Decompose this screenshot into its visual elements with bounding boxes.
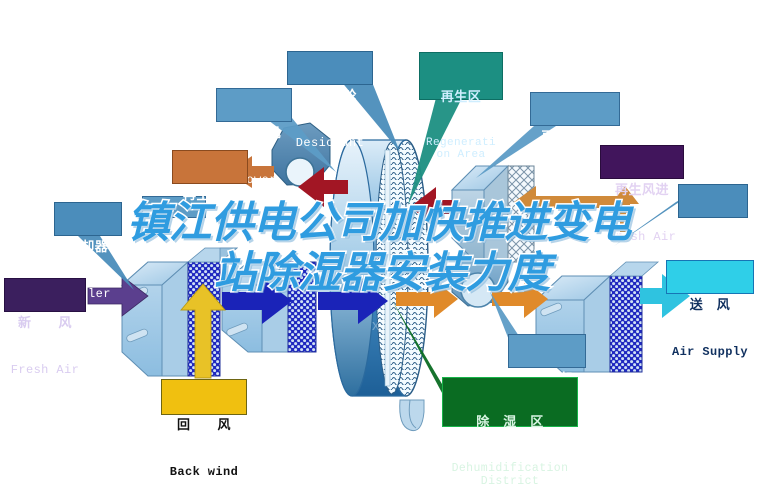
- label-air-supply: 送 风 Air Supply: [666, 260, 754, 294]
- label-desiccant-wheel: 除湿转轮 Desiccant: [287, 51, 373, 85]
- label-dehumidification-blower: 除湿风机 Blower: [508, 334, 586, 368]
- diagram-canvas: xf 除湿转轮 Desiccant 再生风机 Blower 再生区 Regene…: [0, 0, 757, 488]
- label-cooler-left: 冷却器 Cooler: [54, 202, 122, 236]
- label-regeneration-fresh-air-in: 再生风进 Fresh Air: [600, 145, 684, 179]
- label-exhaust: 再生风出 Exhaust: [172, 150, 248, 184]
- label-regeneration-blower: 再生风机 Blower: [216, 88, 292, 122]
- watermark-text: xf: [372, 317, 388, 334]
- label-fresh-air-in: 新 风 Fresh Air: [4, 278, 86, 312]
- label-cooler-right: 冷却器 Cooler: [678, 184, 748, 218]
- label-back-wind: 回 风 Back wind: [161, 379, 247, 415]
- label-dehumidification-district: 除 湿 区 Dehumidification District: [442, 377, 578, 427]
- label-regeneration-heater: 再生加热器 heater: [530, 92, 620, 126]
- label-regeneration-area: 再生区 Regenerati on Area: [419, 52, 503, 100]
